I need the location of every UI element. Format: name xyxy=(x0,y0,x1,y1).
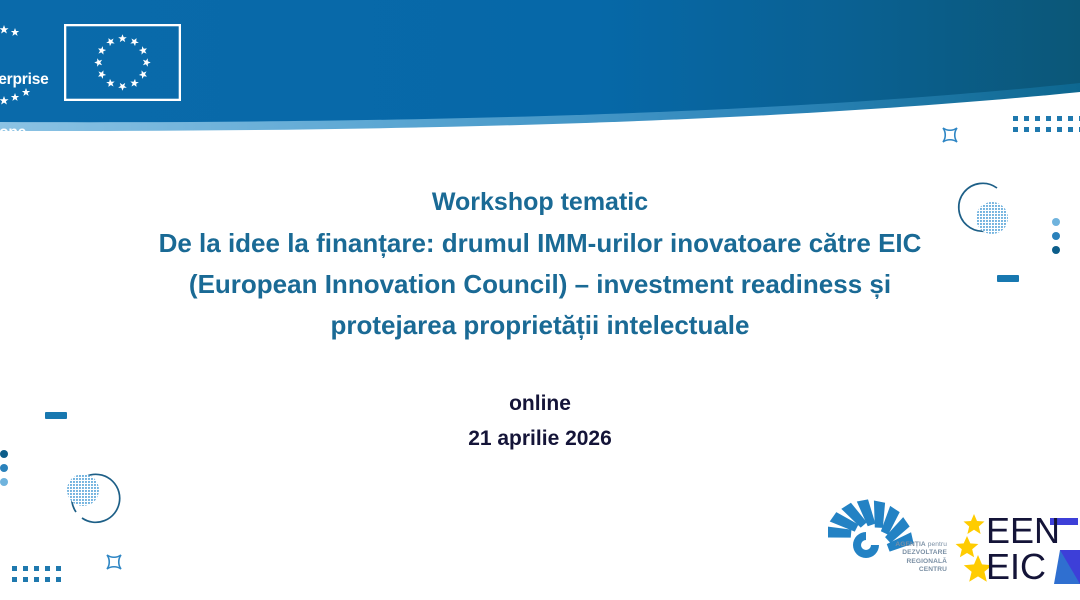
een-logo-line-1: nterprise xyxy=(0,71,49,89)
een-eic-line-2: EIC xyxy=(986,546,1046,587)
cross-icon-bottom-left xyxy=(105,553,123,571)
european-union-flag xyxy=(64,24,181,101)
page-title: Workshop tematic De la idee la finanțare… xyxy=(0,182,1080,346)
title-line-2: De la idee la finanțare: drumul IMM-uril… xyxy=(0,223,1080,264)
title-line-4: protejarea proprietății intelectuale xyxy=(0,305,1080,346)
slide-canvas: nterprise urope etwork xyxy=(0,0,1080,600)
event-format: online xyxy=(0,386,1080,421)
event-details: online 21 aprilie 2026 xyxy=(0,386,1080,456)
adr-line-3: REGIONALĂ xyxy=(869,558,947,566)
event-date: 21 aprilie 2026 xyxy=(0,421,1080,456)
dot-grid-bottom-left xyxy=(12,566,62,584)
een-eic-line-1: EEN xyxy=(986,510,1060,551)
adr-line-2: DEZVOLTARE xyxy=(869,549,947,557)
circle-arc-decoration-bottom-left xyxy=(52,460,124,532)
title-line-3: (European Innovation Council) – investme… xyxy=(0,264,1080,305)
dot-grid-top-right xyxy=(1013,116,1080,134)
title-line-1: Workshop tematic xyxy=(0,182,1080,223)
een-logo-line-2: urope xyxy=(0,124,49,142)
adr-line-4: CENTRU xyxy=(869,566,947,574)
een-eic-logo: EEN EIC xyxy=(954,506,1080,588)
cross-icon-top-right xyxy=(941,126,959,144)
adr-logo-wordmark: AGENȚIA pentru DEZVOLTARE REGIONALĂ CENT… xyxy=(869,541,947,575)
adr-line-1: AGENȚIA pentru xyxy=(869,541,947,549)
